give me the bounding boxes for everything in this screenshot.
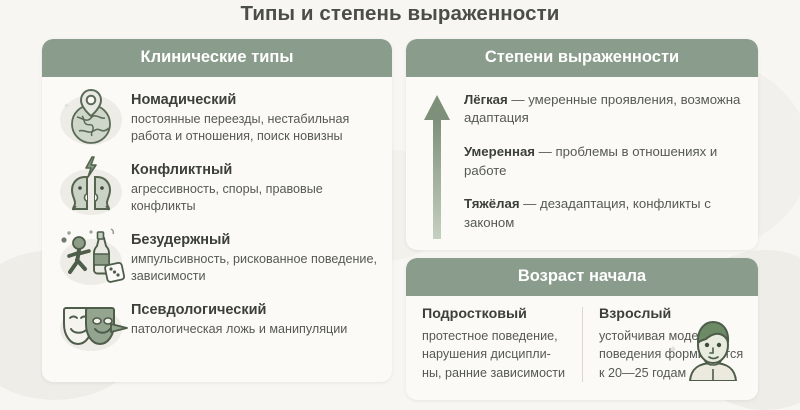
list-item[interactable]: Тяжёлая — дезадаптация, конфликты с зако… [464, 195, 746, 232]
list-item-title: Псевдологический [131, 302, 347, 319]
page-title: Типы и степень выраженности [0, 2, 800, 26]
list-item-text: Конфликтный агрессивность, споры, правов… [131, 156, 378, 216]
severity-header: Степени выраженности [406, 39, 758, 77]
list-item[interactable]: Конфликтный агрессивность, споры, правов… [42, 156, 392, 218]
severity-dash: — [508, 92, 529, 107]
running-bottle-dice-icon [54, 226, 128, 288]
up-arrow-icon [422, 91, 456, 246]
severity-level: Лёгкая [464, 92, 508, 107]
person-face-icon [670, 319, 756, 386]
list-item-title: Конфликтный [131, 162, 378, 179]
severity-level: Умеренная [464, 144, 535, 159]
clinical-types-card: Клинические типы Номадический постоянные… [42, 39, 392, 382]
clinical-types-header: Клинические типы [42, 39, 392, 77]
age-of-onset-body: Подростковый протестное поведение, наруш… [406, 296, 758, 382]
list-item-title: Безудержный [131, 232, 378, 249]
age-of-onset-header: Возраст начала [406, 258, 758, 296]
severity-dash: — [520, 196, 541, 211]
list-item-description: постоянные переезды, нестабильная работа… [131, 111, 378, 145]
globe-pin-icon [54, 86, 128, 148]
age-column-adolescent[interactable]: Подростковый протестное поведение, наруш… [406, 307, 582, 382]
age-of-onset-card: Возраст начала Подростковый протестное п… [406, 258, 758, 400]
severity-dash: — [535, 144, 556, 159]
age-column-description: протестное поведение, нарушения дисципли… [422, 327, 570, 382]
list-item-text: Безудержный импульсивность, рискованное … [131, 226, 378, 286]
list-item[interactable]: Безудержный импульсивность, рискованное … [42, 226, 392, 288]
clinical-types-list: Номадический постоянные переезды, нестаб… [42, 77, 392, 358]
severity-level: Тяжёлая [464, 196, 520, 211]
list-item[interactable]: Псевдологический патологическая ложь и м… [42, 296, 392, 358]
list-item[interactable]: Умеренная — проблемы в отношениях и рабо… [464, 143, 746, 180]
list-item-description: импульсивность, рискованное поведение, з… [131, 251, 378, 285]
list-item-text: Номадический постоянные переезды, нестаб… [131, 86, 378, 146]
severity-list: Лёгкая — умеренные проявления, возможна … [456, 91, 746, 246]
severity-card: Степени выраженности Лёгкая — умеренные … [406, 39, 758, 250]
arguing-heads-icon [54, 156, 128, 218]
list-item-text: Псевдологический патологическая ложь и м… [131, 296, 347, 339]
severity-body: Лёгкая — умеренные проявления, возможна … [406, 77, 758, 246]
age-column-title: Подростковый [422, 307, 570, 323]
list-item[interactable]: Лёгкая — умеренные проявления, возможна … [464, 91, 746, 128]
list-item-title: Номадический [131, 92, 378, 109]
list-item-description: патологическая ложь и манипуляции [131, 321, 347, 338]
theatre-masks-icon [54, 296, 128, 358]
list-item-description: агрессивность, споры, правовые конфликты [131, 181, 378, 215]
list-item[interactable]: Номадический постоянные переезды, нестаб… [42, 86, 392, 148]
